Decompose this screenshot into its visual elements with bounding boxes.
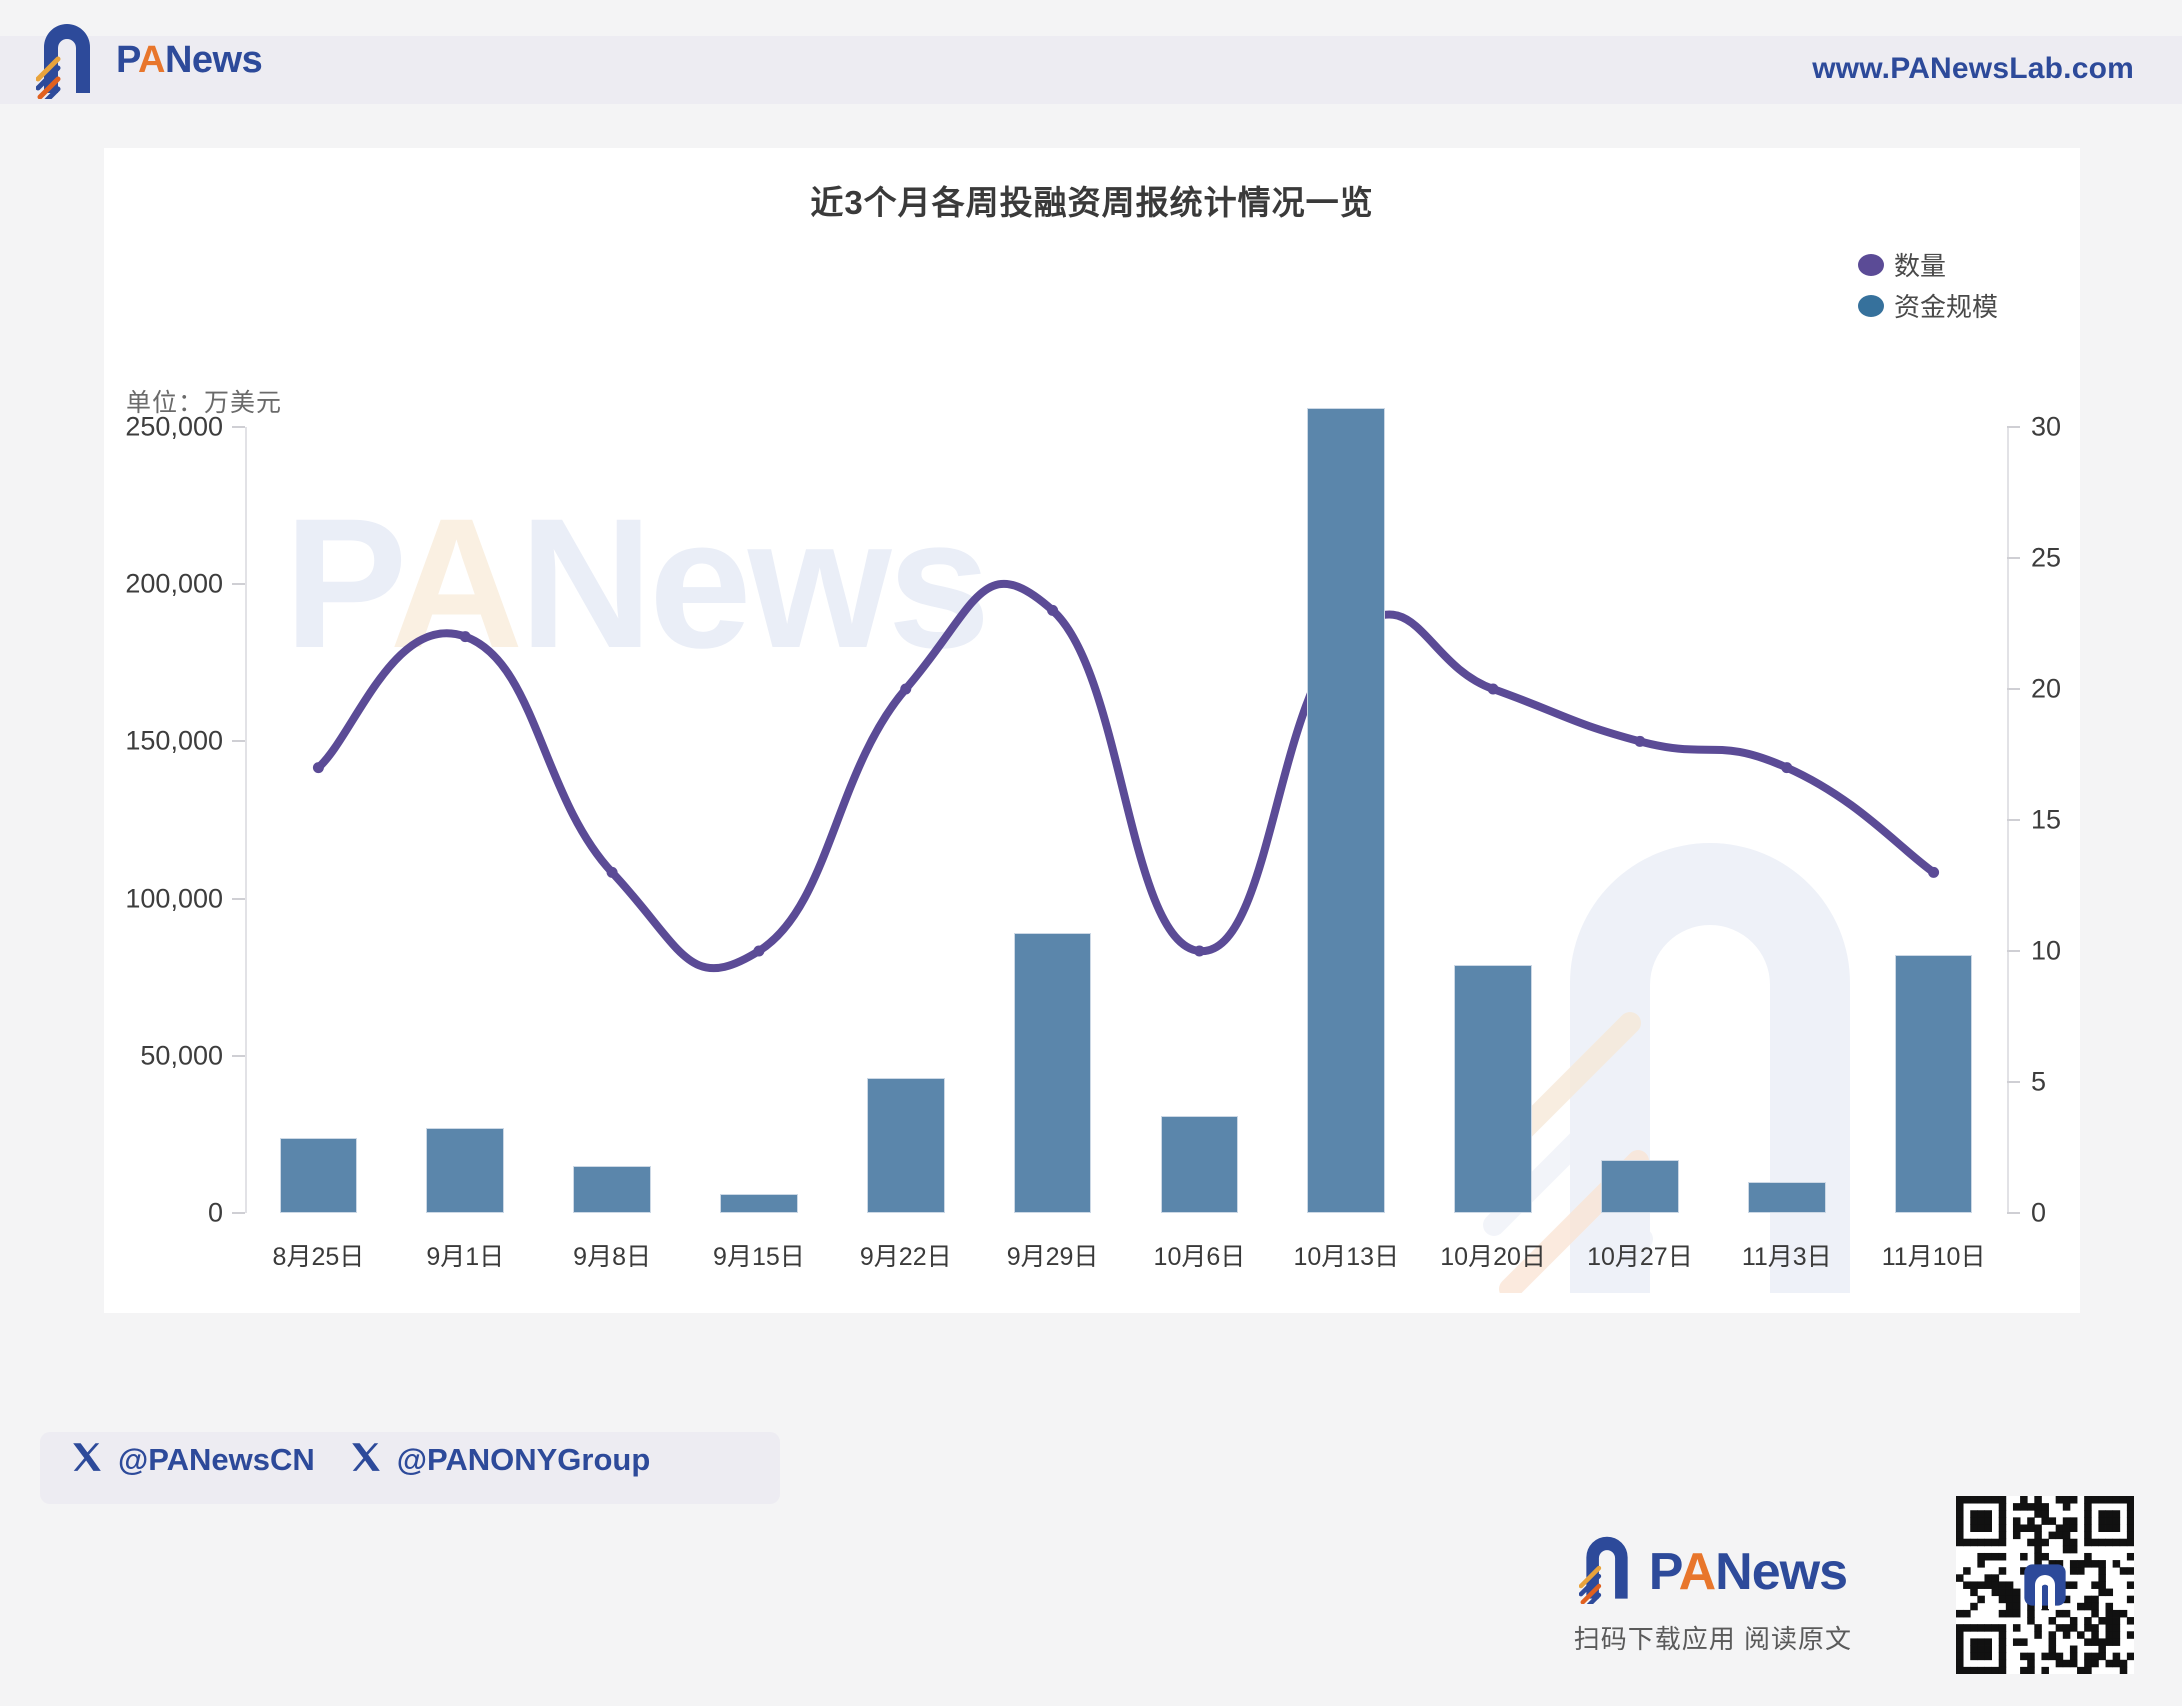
y-axis-left-tick [232,426,245,428]
line-point-8月25日[interactable] [313,762,324,773]
x-axis-tick-label: 10月27日 [1587,1237,1693,1273]
y-axis-right-tick [2007,950,2020,952]
chart-legend: 数量 资金规模 [1858,246,1998,324]
legend-label-amount: 资金规模 [1894,287,1998,324]
x-axis-tick-label: 11月3日 [1742,1237,1832,1273]
y-axis-left-tick-label: 50,000 [140,1040,223,1071]
y-axis-right-tick-label: 20 [2031,674,2061,705]
line-point-9月29日[interactable] [1047,605,1058,616]
line-series-svg [245,427,2007,1213]
social-link-panonygroup[interactable]: @PANONYGroup [349,1440,651,1479]
social-links: @PANewsCN @PANONYGroup [70,1440,650,1479]
footer-logo-news: News [1715,1543,1847,1601]
bar-10月13日[interactable] [1307,408,1385,1213]
y-axis-right-tick [2007,557,2020,559]
line-point-10月6日[interactable] [1194,946,1205,957]
line-point-11月3日[interactable] [1781,762,1792,773]
page-title: 近3个月各周投融资周报统计情况一览 [104,176,2080,224]
footer-logo-a: A [1679,1543,1716,1601]
logo-news: News [165,39,262,81]
legend-label-count: 数量 [1894,246,1946,283]
x-axis-tick-label: 8月25日 [273,1237,365,1273]
panews-arch-logo-icon [36,21,98,99]
x-axis-tick-label: 9月8日 [573,1237,651,1273]
y-axis-right-tick-label: 0 [2031,1198,2046,1229]
footer-logo-p: P [1649,1543,1679,1601]
y-axis-left-tick [232,740,245,742]
y-axis-left-tick [232,583,245,585]
chart-plot-area: 050,000100,000150,000200,000250,00005101… [245,427,2007,1213]
bar-10月20日[interactable] [1454,965,1532,1213]
y-axis-right-tick-label: 10 [2031,936,2061,967]
footer-brand: PANews 扫码下载应用 阅读原文 [1574,1534,1852,1656]
logo-a: A [138,39,165,81]
line-point-9月22日[interactable] [900,684,911,695]
bar-8月25日[interactable] [280,1138,358,1213]
legend-item-count[interactable]: 数量 [1858,246,1998,283]
x-twitter-icon [70,1440,104,1479]
legend-dot-icon [1858,295,1884,317]
bar-11月3日[interactable] [1748,1182,1826,1213]
bar-9月29日[interactable] [1014,933,1092,1213]
x-twitter-icon [349,1440,383,1479]
bar-11月10日[interactable] [1895,955,1973,1213]
footer-brand-text: PANews [1649,1542,1847,1602]
panews-arch-logo-icon [1579,1534,1635,1609]
bar-9月22日[interactable] [867,1078,945,1213]
footer-brand-row: PANews [1579,1534,1847,1609]
social-handle: @PANewsCN [118,1442,315,1478]
page-root: PANews www.PANewsLab.com 近3个月各周投融资周报统计情况… [0,0,2182,1706]
line-point-10月27日[interactable] [1634,736,1645,747]
y-axis-left-tick [232,898,245,900]
y-axis-right-tick-label: 25 [2031,543,2061,574]
qr-code-icon[interactable] [1956,1496,2134,1674]
line-point-9月8日[interactable] [607,867,618,878]
x-axis-tick-label: 10月20日 [1440,1237,1546,1273]
line-series-count [318,584,1933,968]
bar-10月27日[interactable] [1601,1160,1679,1213]
site-url[interactable]: www.PANewsLab.com [1812,52,2134,86]
y-axis-left-tick-label: 150,000 [125,726,223,757]
bar-9月8日[interactable] [573,1166,651,1213]
logo-p: P [116,39,138,81]
y-axis-left-tick-label: 250,000 [125,412,223,443]
y-axis-right-tick [2007,426,2020,428]
social-handle: @PANONYGroup [397,1442,651,1478]
x-axis-tick-label: 11月10日 [1882,1237,1986,1273]
x-axis-tick-label: 9月1日 [426,1237,504,1273]
social-link-panewscn[interactable]: @PANewsCN [70,1440,315,1479]
y-axis-right-tick-label: 15 [2031,805,2061,836]
y-axis-right-tick [2007,819,2020,821]
bar-9月1日[interactable] [426,1128,504,1213]
chart-card: 近3个月各周投融资周报统计情况一览 数量 资金规模 单位：万美元 PANews [104,148,2080,1313]
y-axis-right-tick-label: 30 [2031,412,2061,443]
line-point-11月10日[interactable] [1928,867,1939,878]
x-axis-tick-label: 10月6日 [1154,1237,1246,1273]
legend-dot-icon [1858,254,1884,276]
legend-item-amount[interactable]: 资金规模 [1858,287,1998,324]
footer-cta-text: 扫码下载应用 阅读原文 [1574,1619,1852,1656]
x-axis-tick-label: 9月22日 [860,1237,952,1273]
line-point-10月20日[interactable] [1488,684,1499,695]
header-logo[interactable]: PANews [36,20,336,100]
x-axis-tick-label: 9月29日 [1007,1237,1099,1273]
y-axis-right-tick [2007,1212,2020,1214]
y-axis-left-tick-label: 200,000 [125,569,223,600]
y-axis-left-tick [232,1055,245,1057]
x-axis-tick-label: 9月15日 [713,1237,805,1273]
x-axis-tick-label: 10月13日 [1293,1237,1399,1273]
line-point-9月1日[interactable] [460,631,471,642]
y-axis-right-tick [2007,1081,2020,1083]
header-logo-text: PANews [116,39,262,82]
y-axis-right-tick [2007,688,2020,690]
y-axis-left-tick-label: 0 [208,1198,223,1229]
y-axis-right-tick-label: 5 [2031,1067,2046,1098]
bar-9月15日[interactable] [720,1194,798,1213]
bar-10月6日[interactable] [1161,1116,1239,1213]
y-axis-left-tick [232,1212,245,1214]
y-axis-left-tick-label: 100,000 [125,883,223,914]
line-point-9月15日[interactable] [753,946,764,957]
